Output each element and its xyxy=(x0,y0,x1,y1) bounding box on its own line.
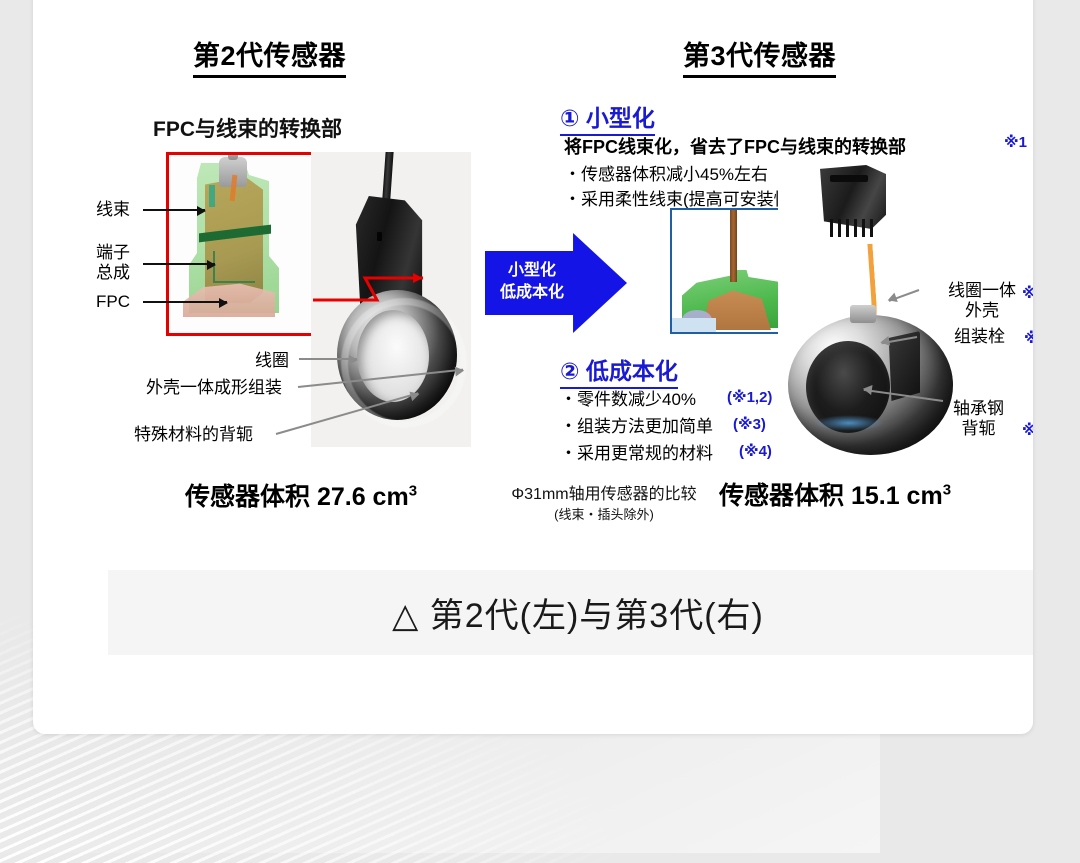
section1-bullet-2: ・采用柔性线束(提高可安装性) xyxy=(564,185,796,210)
right-sensor-blue-glint xyxy=(814,415,884,431)
caption-bar: △ 第2代(左)与第3代(右) xyxy=(108,570,1033,655)
right-sensor-boss xyxy=(850,305,876,323)
right-callout-yoke-line2: 背轭 xyxy=(953,419,1004,439)
section2-bullet-3: ・采用更常规的材料 xyxy=(560,439,713,464)
section1-lead-text: 将FPC线束化，省去了FPC与线束的转换部 xyxy=(564,133,906,159)
cutaway-teal-part xyxy=(209,185,215,207)
section1-note-ref: ※1 xyxy=(1004,133,1027,151)
section2-heading: ② 低成本化 xyxy=(560,352,678,389)
left-callout-wire-harness: 线束 xyxy=(96,200,130,220)
right-callout-coil-housing-line1: 线圈一体 xyxy=(948,281,1016,301)
left-callout-coil: 线圈 xyxy=(255,351,289,371)
right-sensor-photo xyxy=(778,165,968,465)
section2-bullet-1-ref: (※1,2) xyxy=(727,388,772,406)
section2-bullet-2-ref: (※3) xyxy=(733,415,766,433)
left-callout-fpc: FPC xyxy=(96,292,130,312)
right-volume-text: 传感器体积 15.1 cm xyxy=(719,482,943,510)
right-cutaway-brown-stem xyxy=(730,210,737,282)
section2-bullet-2: ・组装方法更加简单 xyxy=(560,412,713,437)
transition-arrow-line2: 低成本化 xyxy=(489,282,575,304)
right-volume-exponent: 3 xyxy=(943,482,951,499)
left-callout-terminal-arrow xyxy=(143,263,215,265)
left-callout-terminal-line1: 端子 xyxy=(96,243,130,263)
right-callout-yoke-line1: 轴承钢 xyxy=(953,399,1004,419)
right-callout-coil-housing-line2: 外壳 xyxy=(948,301,1016,321)
section2-heading-text: ② 低成本化 xyxy=(560,352,678,389)
right-callout-yoke-ref: ※4 xyxy=(1022,421,1033,439)
section2-bullet-1: ・零件数减少40% xyxy=(560,385,696,410)
left-volume-exponent: 3 xyxy=(409,483,417,500)
left-callout-terminal-line2: 总成 xyxy=(96,263,130,283)
left-callout-coil-arrow xyxy=(299,358,357,360)
left-callout-backyoke: 特殊材料的背轭 xyxy=(134,425,253,445)
transition-arrow: 小型化 低成本化 xyxy=(485,233,627,333)
center-note-line2: (线束・插头除外) xyxy=(486,506,722,524)
right-column-title: 第3代传感器 xyxy=(683,34,836,78)
sensor-cable xyxy=(382,152,394,202)
transition-arrow-line1: 小型化 xyxy=(489,260,575,282)
left-column-title: 第2代传感器 xyxy=(193,34,346,78)
left-volume-text: 传感器体积 27.6 cm xyxy=(185,483,409,511)
left-callout-housing: 外壳一体成形组装 xyxy=(146,378,282,398)
right-callout-assembly-bolt: 组装栓 xyxy=(954,327,1005,347)
left-volume-label: 传感器体积 27.6 cm3 xyxy=(185,477,417,513)
right-callout-assembly-bolt-ref: ※3 xyxy=(1024,329,1033,347)
caption-text: △ 第2代(左)与第3代(右) xyxy=(392,588,764,637)
cutaway-trace xyxy=(213,251,255,283)
section1-heading-text: ① 小型化 xyxy=(560,99,655,136)
section2-bullet-3-ref: (※4) xyxy=(739,442,772,460)
left-callout-terminal-assembly: 端子 总成 xyxy=(96,243,130,282)
right-cutaway-blue-part xyxy=(672,318,716,332)
left-callout-wire-arrow xyxy=(143,209,205,211)
center-note: Φ31mm轴用传感器的比较 (线束・插头除外) xyxy=(486,484,722,523)
transition-arrow-text: 小型化 低成本化 xyxy=(489,260,575,303)
right-callout-coil-housing: 线圈一体 外壳 xyxy=(948,281,1016,322)
left-sensor-photo xyxy=(311,152,471,447)
right-volume-label: 传感器体积 15.1 cm3 xyxy=(719,476,951,512)
center-note-line1: Φ31mm轴用传感器的比较 xyxy=(486,484,722,506)
left-figure-caption: FPC与线束的转换部 xyxy=(153,113,342,143)
left-callout-fpc-arrow xyxy=(143,301,227,303)
right-column-title-text: 第3代传感器 xyxy=(683,34,836,78)
left-cutaway-diagram xyxy=(166,152,316,336)
right-callout-bearing-steel-yoke: 轴承钢 背轭 xyxy=(953,399,1004,440)
section1-heading: ① 小型化 xyxy=(560,99,655,136)
slide-content-area: 第2代传感器 第3代传感器 FPC与线束的转换部 线束 端子 总成 FPC xyxy=(33,0,1033,690)
right-callout-coil-housing-ref: ※2 xyxy=(1022,284,1033,302)
section1-bullet-1: ・传感器体积减小45%左右 xyxy=(564,160,768,185)
left-column-title-text: 第2代传感器 xyxy=(193,34,346,78)
right-sensor-pins xyxy=(830,219,874,237)
